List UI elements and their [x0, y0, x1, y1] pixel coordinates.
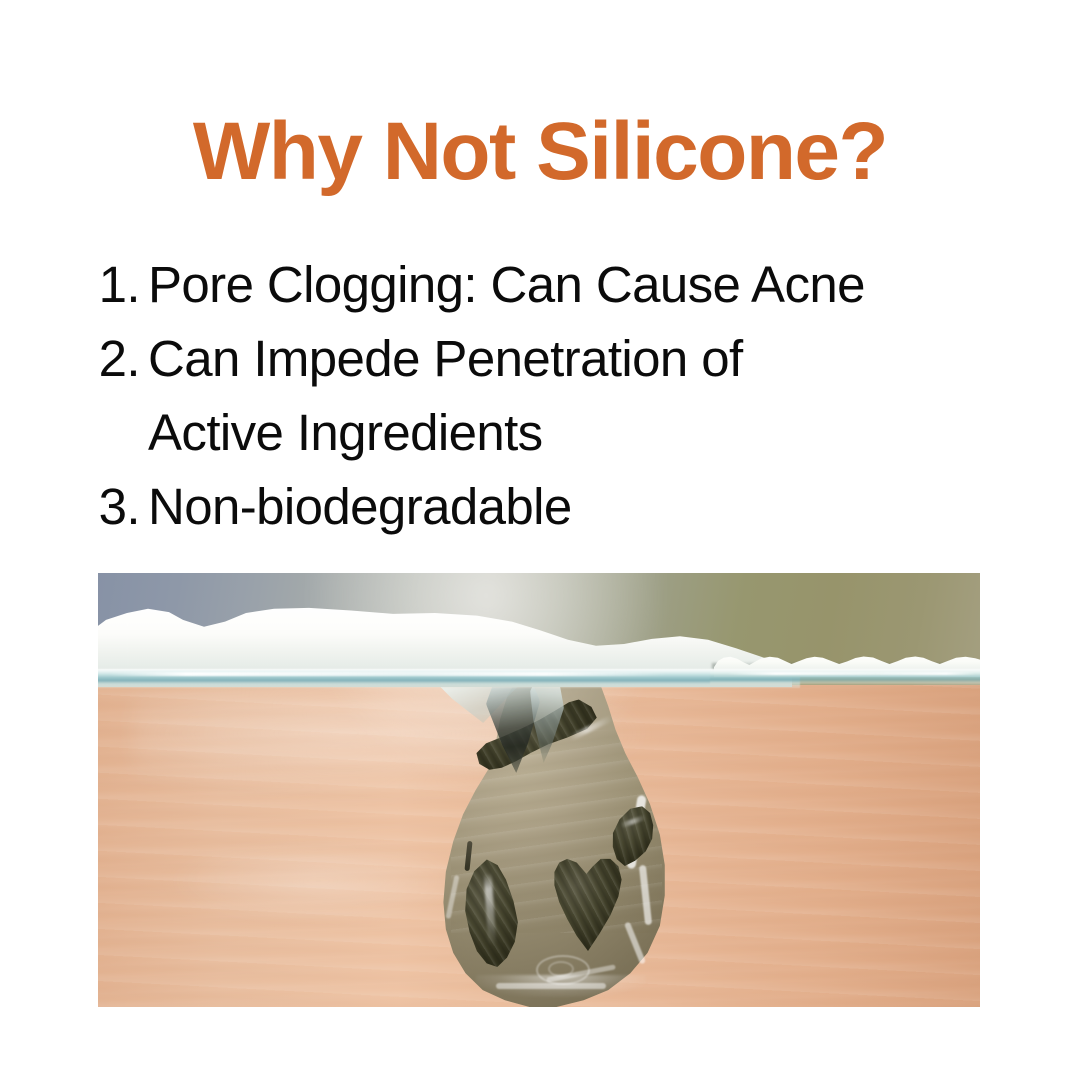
- list-item: 3. Non-biodegradable: [96, 470, 1006, 544]
- pore-bottom-gloss: [476, 975, 646, 997]
- list-item-number: 3.: [96, 470, 148, 544]
- list-item: 1. Pore Clogging: Can Cause Acne: [96, 248, 1006, 322]
- skin-cross-section-illustration: [98, 573, 980, 1007]
- gloss-band-right-highlight: [726, 672, 976, 675]
- list-item-number: 1.: [96, 248, 148, 322]
- reasons-list: 1. Pore Clogging: Can Cause Acne 2. Can …: [96, 248, 1006, 544]
- list-item-label: Can Impede Penetration of Active Ingredi…: [148, 322, 1006, 470]
- gloss-band-left-highlight: [108, 672, 668, 676]
- list-item-number: 2.: [96, 322, 148, 396]
- list-item: 2. Can Impede Penetration of Active Ingr…: [96, 322, 1006, 470]
- poster-canvas: Why Not Silicone? 1. Pore Clogging: Can …: [0, 0, 1080, 1080]
- list-item-label: Non-biodegradable: [148, 470, 1006, 544]
- skin-sheen-highlight-2: [169, 842, 469, 920]
- list-item-label: Pore Clogging: Can Cause Acne: [148, 248, 1006, 322]
- page-title: Why Not Silicone?: [0, 104, 1080, 200]
